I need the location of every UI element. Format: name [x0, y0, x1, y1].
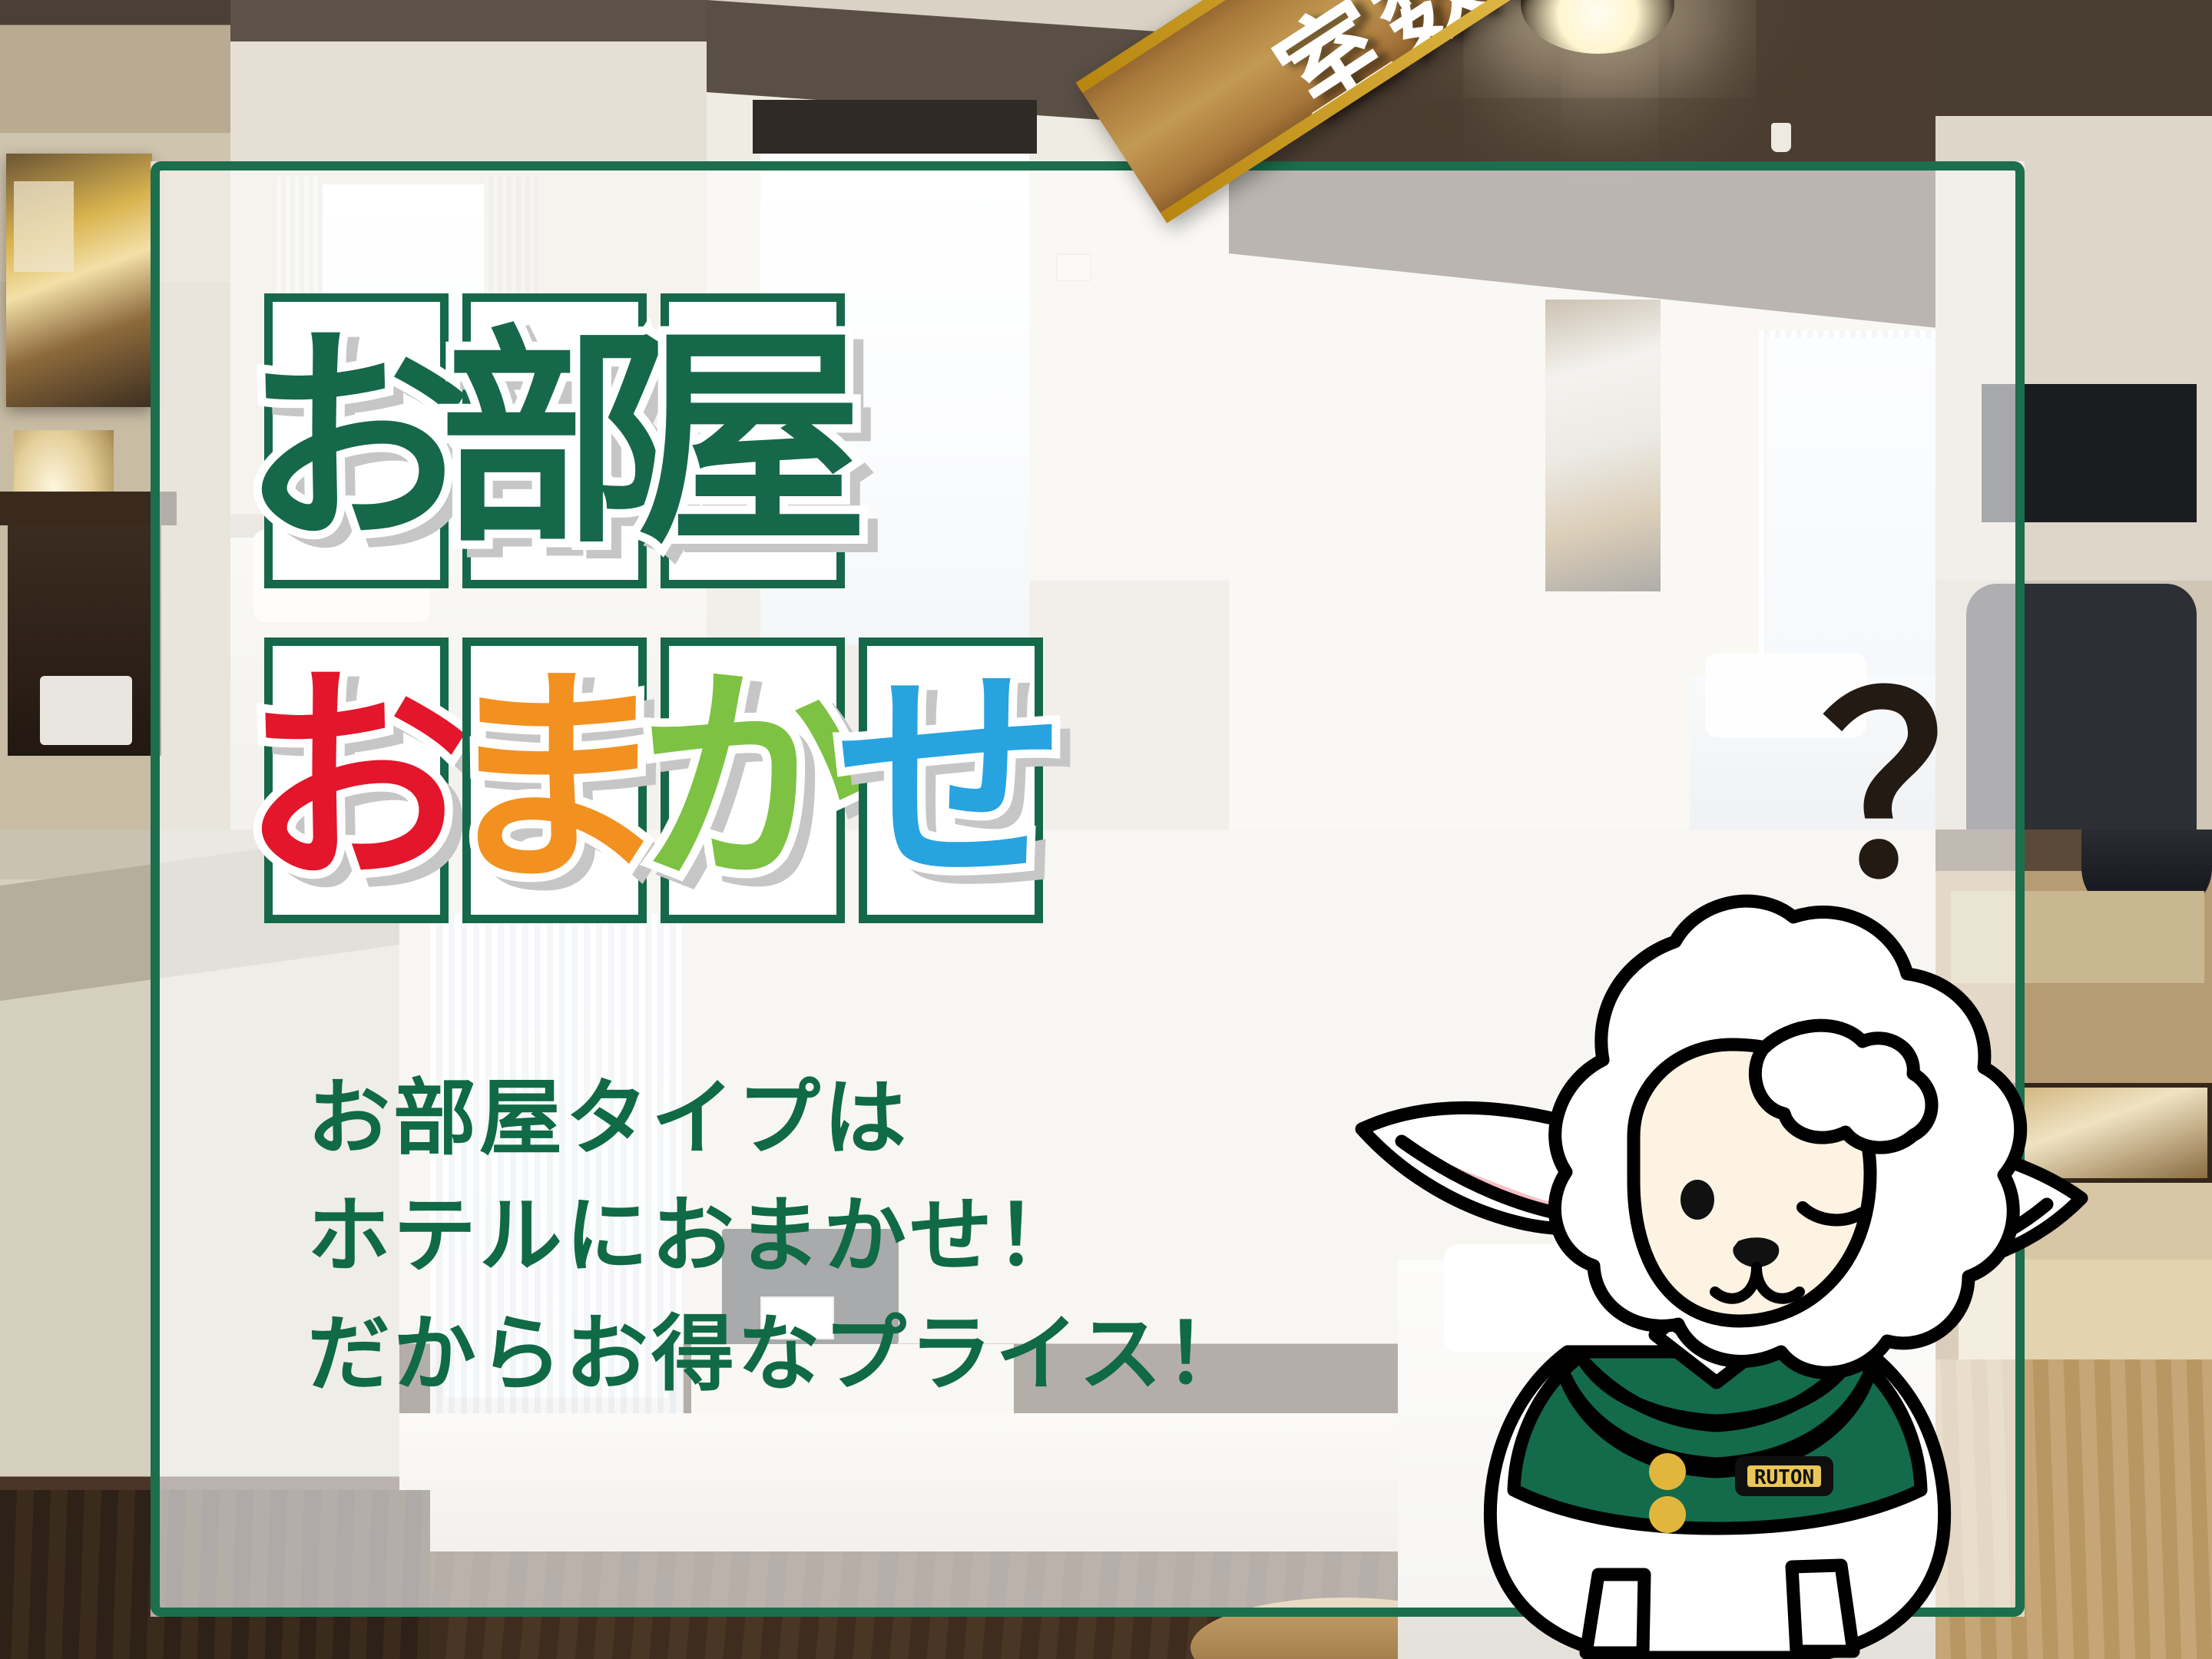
headline-row-2: お お お ま ま ま か か か せ せ せ: [264, 637, 1043, 923]
tagline-block: お部屋タイプは ホテルにおまかせ！ だからお得なプライス！: [307, 1060, 1251, 1413]
char-fill: か: [669, 646, 836, 915]
mascot-button: [1649, 1496, 1686, 1533]
char-fill: お: [273, 646, 440, 915]
char-fill: ま: [471, 646, 638, 915]
headline-char-box: せ せ せ: [859, 637, 1043, 923]
tagline-line-1: お部屋タイプは: [307, 1060, 1251, 1177]
headline-char-box: ま ま ま: [462, 637, 647, 923]
headline-char-box: お お お: [264, 637, 449, 923]
char-fill: せ: [867, 646, 1035, 915]
mascot-left-leg: [1586, 1575, 1644, 1653]
mascot-button: [1649, 1453, 1686, 1490]
char-fill: 屋: [669, 302, 836, 580]
headline-char-box: お お お: [264, 293, 449, 588]
headline-char-box: 部 部 部: [462, 293, 647, 588]
mascot-right-leg: [1792, 1565, 1853, 1651]
poster-canvas: 室数限定！ お お お 部 部 部 屋 屋 屋: [0, 0, 2212, 1659]
tagline-line-3: だからお得なプライス！: [307, 1296, 1251, 1413]
headline-row-1: お お お 部 部 部 屋 屋 屋: [264, 293, 845, 588]
headline-char-box: か か か: [661, 637, 845, 923]
char-fill: お: [273, 302, 440, 580]
mascot-left-eye: [1681, 1180, 1714, 1220]
headline-char-box: 屋 屋 屋: [661, 293, 845, 588]
char-fill: 部: [471, 302, 638, 580]
tagline-line-2: ホテルにおまかせ！: [307, 1177, 1251, 1295]
sheep-mascot: RUTON: [1333, 814, 2108, 1659]
mascot-badge-text: RUTON: [1754, 1466, 1814, 1489]
